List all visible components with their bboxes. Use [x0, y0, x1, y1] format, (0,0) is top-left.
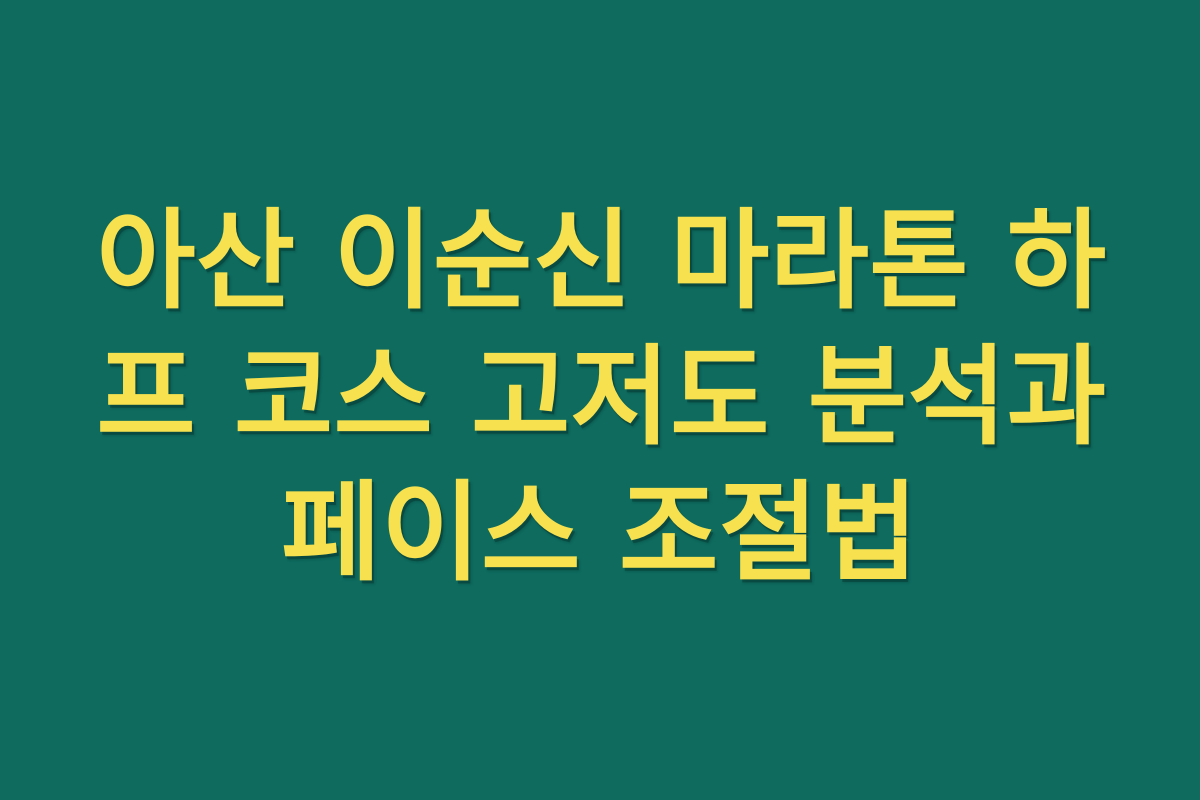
title-line-2: 프 코스 고저도 분석과	[97, 330, 1104, 466]
title-line-1: 아산 이순신 마라톤 하	[97, 194, 1104, 330]
title-card: 아산 이순신 마라톤 하 프 코스 고저도 분석과 페이스 조절법	[0, 0, 1200, 800]
page-title: 아산 이순신 마라톤 하 프 코스 고저도 분석과 페이스 조절법	[95, 194, 1105, 602]
title-line-3: 페이스 조절법	[95, 466, 1105, 602]
